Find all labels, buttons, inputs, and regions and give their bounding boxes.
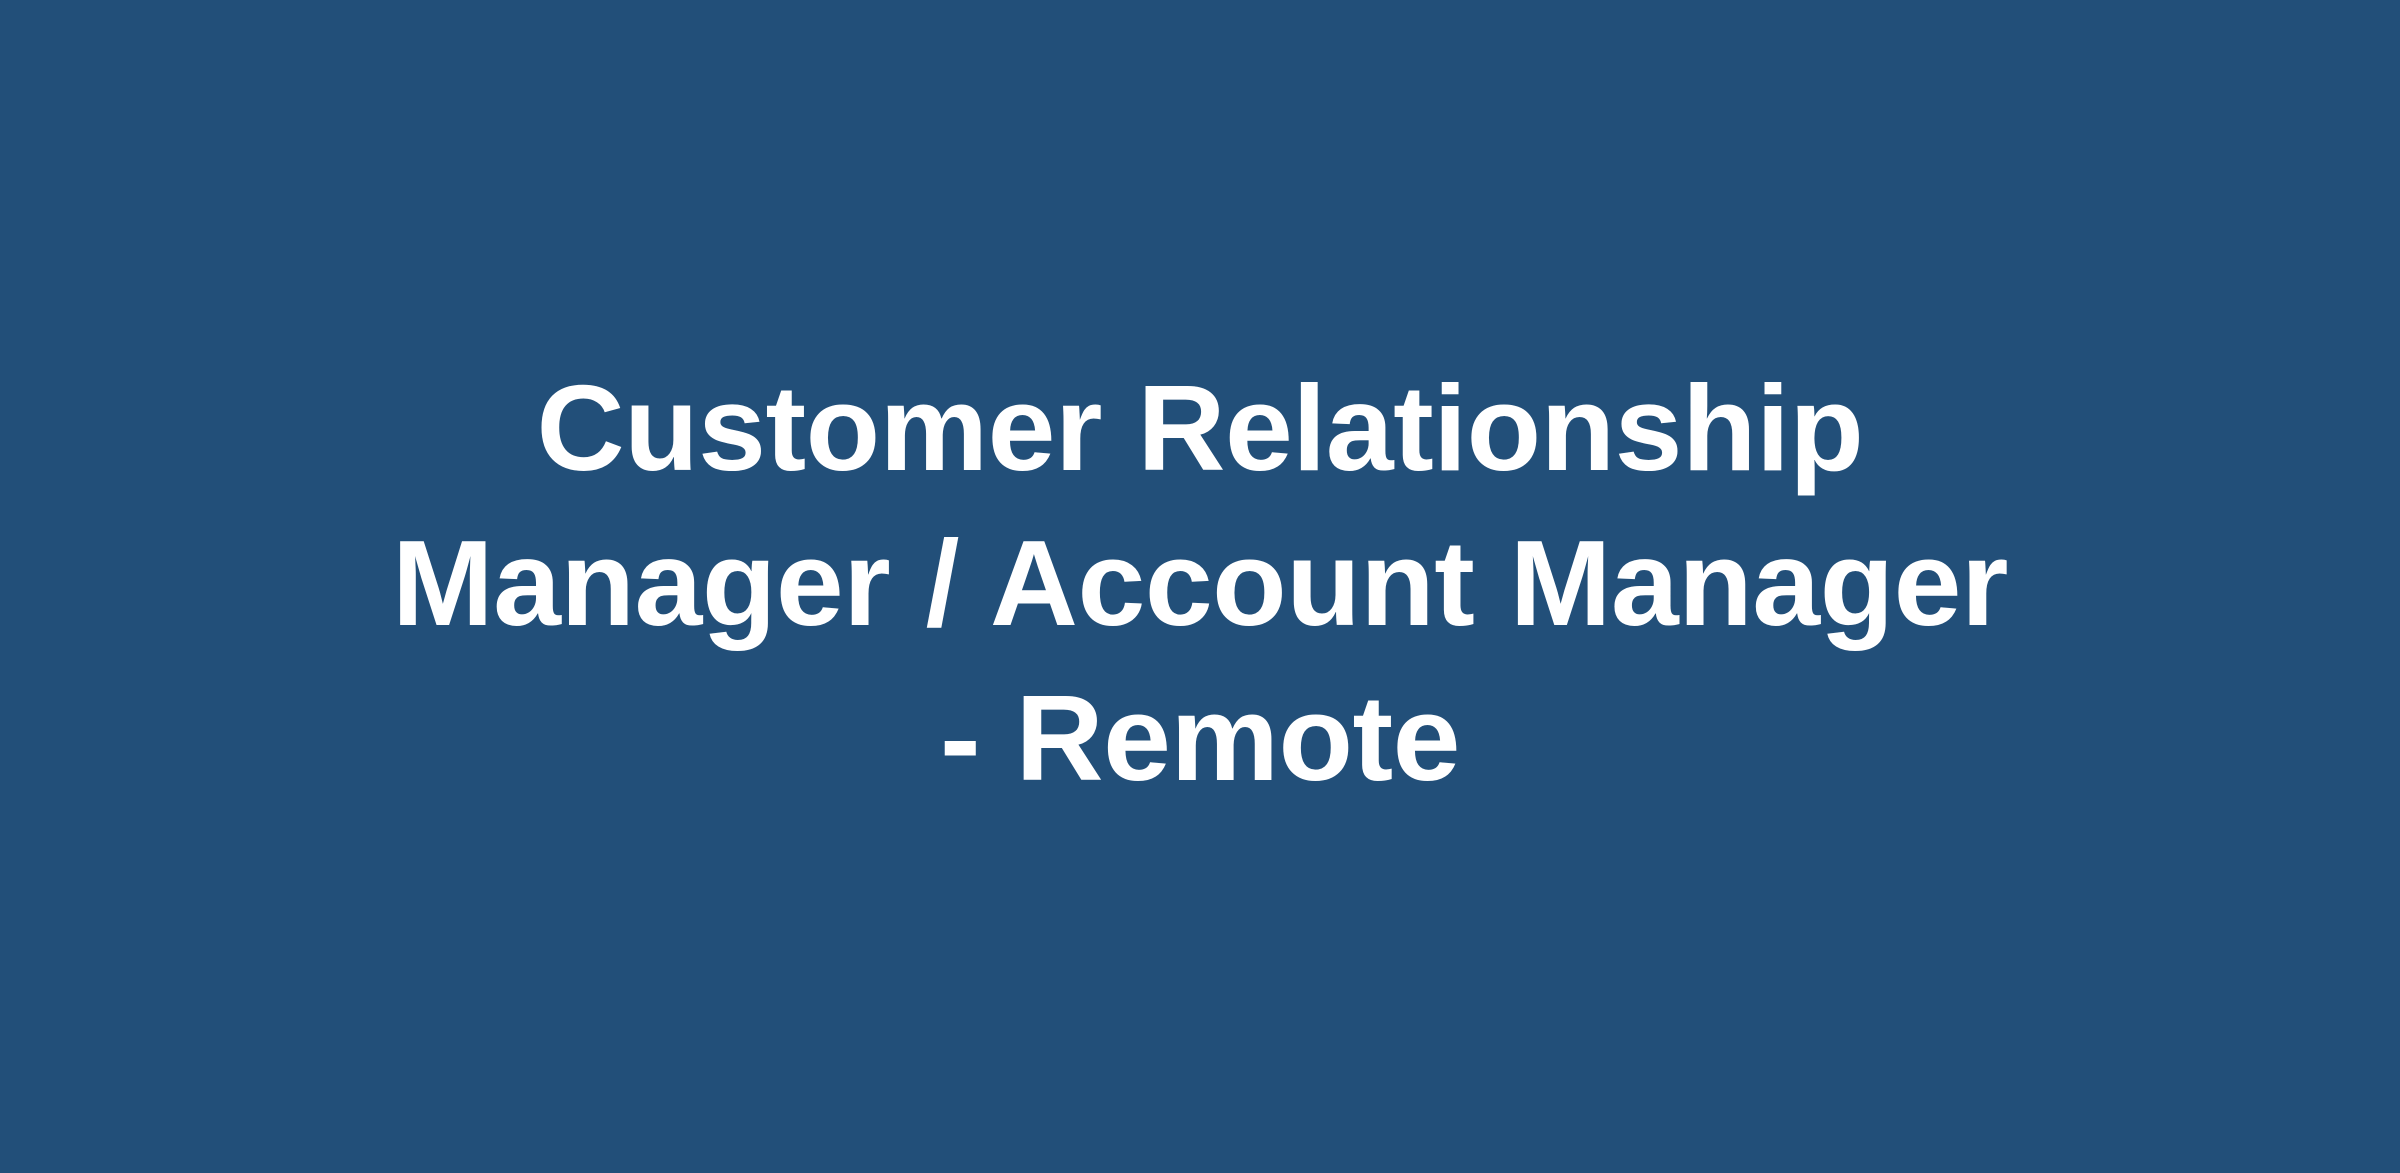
page-title: Customer Relationship Manager / Account …: [310, 351, 2090, 816]
job-posting-card: Customer Relationship Manager / Account …: [0, 0, 2400, 1173]
job-title-line-1: Customer Relationship: [310, 351, 2090, 506]
job-title-block: Customer Relationship Manager / Account …: [310, 351, 2090, 816]
job-title-line-3: - Remote: [310, 661, 2090, 816]
job-title-line-2: Manager / Account Manager: [310, 506, 2090, 661]
